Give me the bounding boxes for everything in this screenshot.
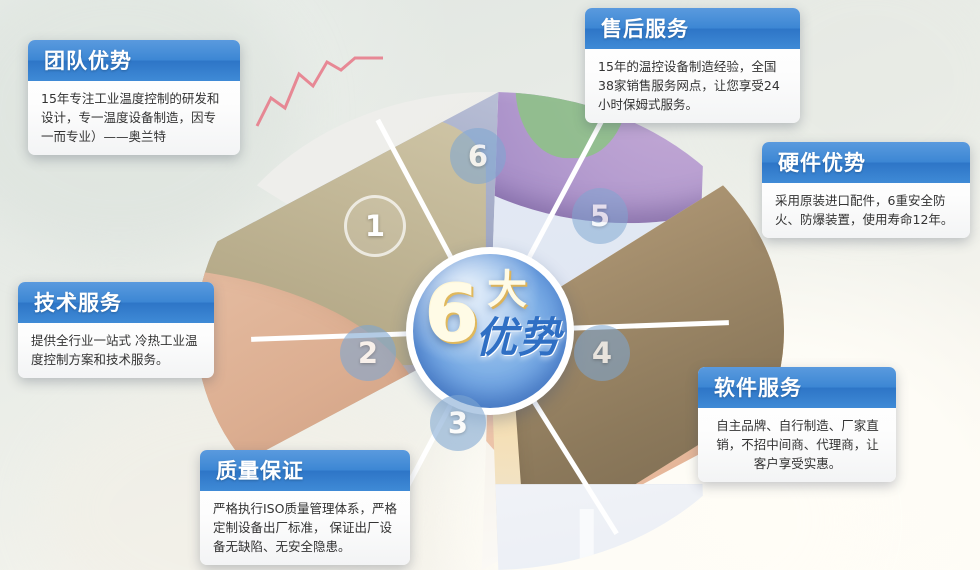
card-aftersales[interactable]: 售后服务 15年的温控设备制造经验，全国38家销售服务网点，让您享受24小时保姆… (585, 8, 800, 123)
marker-2[interactable]: 2 (340, 325, 396, 381)
card-aftersales-title: 售后服务 (585, 8, 800, 49)
card-software-title: 软件服务 (698, 367, 896, 408)
marker-5[interactable]: 5 (572, 188, 628, 244)
card-team[interactable]: 团队优势 15年专注工业温度控制的研发和设计，专一温度设备制造，因专一而专业）—… (28, 40, 240, 155)
card-quality-body: 严格执行ISO质量管理体系，严格定制设备出厂标准， 保证出厂设备无缺陷、无安全隐… (200, 491, 410, 565)
card-hardware-title: 硬件优势 (762, 142, 970, 183)
card-software[interactable]: 软件服务 自主品牌、自行制造、厂家直销，不招中间商、代理商，让客户享受实惠。 (698, 367, 896, 482)
center-label-youshi: 优势 (475, 316, 561, 360)
card-hardware-body: 采用原装进口配件，6重安全防火、防爆装置，使用寿命12年。 (762, 183, 970, 238)
marker-4[interactable]: 4 (574, 325, 630, 381)
card-quality[interactable]: 质量保证 严格执行ISO质量管理体系，严格定制设备出厂标准， 保证出厂设备无缺陷… (200, 450, 410, 565)
center-hub: 6 大 优势 (406, 247, 574, 415)
card-software-body: 自主品牌、自行制造、厂家直销，不招中间商、代理商，让客户享受实惠。 (698, 408, 896, 482)
center-label-da: 大 (487, 270, 527, 310)
card-quality-title: 质量保证 (200, 450, 410, 491)
card-team-title: 团队优势 (28, 40, 240, 81)
card-tech-body: 提供全行业一站式 冷热工业温度控制方案和技术服务。 (18, 323, 214, 378)
card-tech-title: 技术服务 (18, 282, 214, 323)
center-number: 6 (425, 276, 479, 354)
marker-3[interactable]: 3 (430, 395, 486, 451)
marker-6[interactable]: 6 (450, 128, 506, 184)
card-tech[interactable]: 技术服务 提供全行业一站式 冷热工业温度控制方案和技术服务。 (18, 282, 214, 378)
card-team-body: 15年专注工业温度控制的研发和设计，专一温度设备制造，因专一而专业）——奥兰特 (28, 81, 240, 155)
card-hardware[interactable]: 硬件优势 采用原装进口配件，6重安全防火、防爆装置，使用寿命12年。 (762, 142, 970, 238)
marker-1[interactable]: 1 (344, 195, 406, 257)
infographic-canvas: STOCK MARKET DATA iNTC 440.96 (0, 0, 980, 570)
card-aftersales-body: 15年的温控设备制造经验，全国38家销售服务网点，让您享受24小时保姆式服务。 (585, 49, 800, 123)
